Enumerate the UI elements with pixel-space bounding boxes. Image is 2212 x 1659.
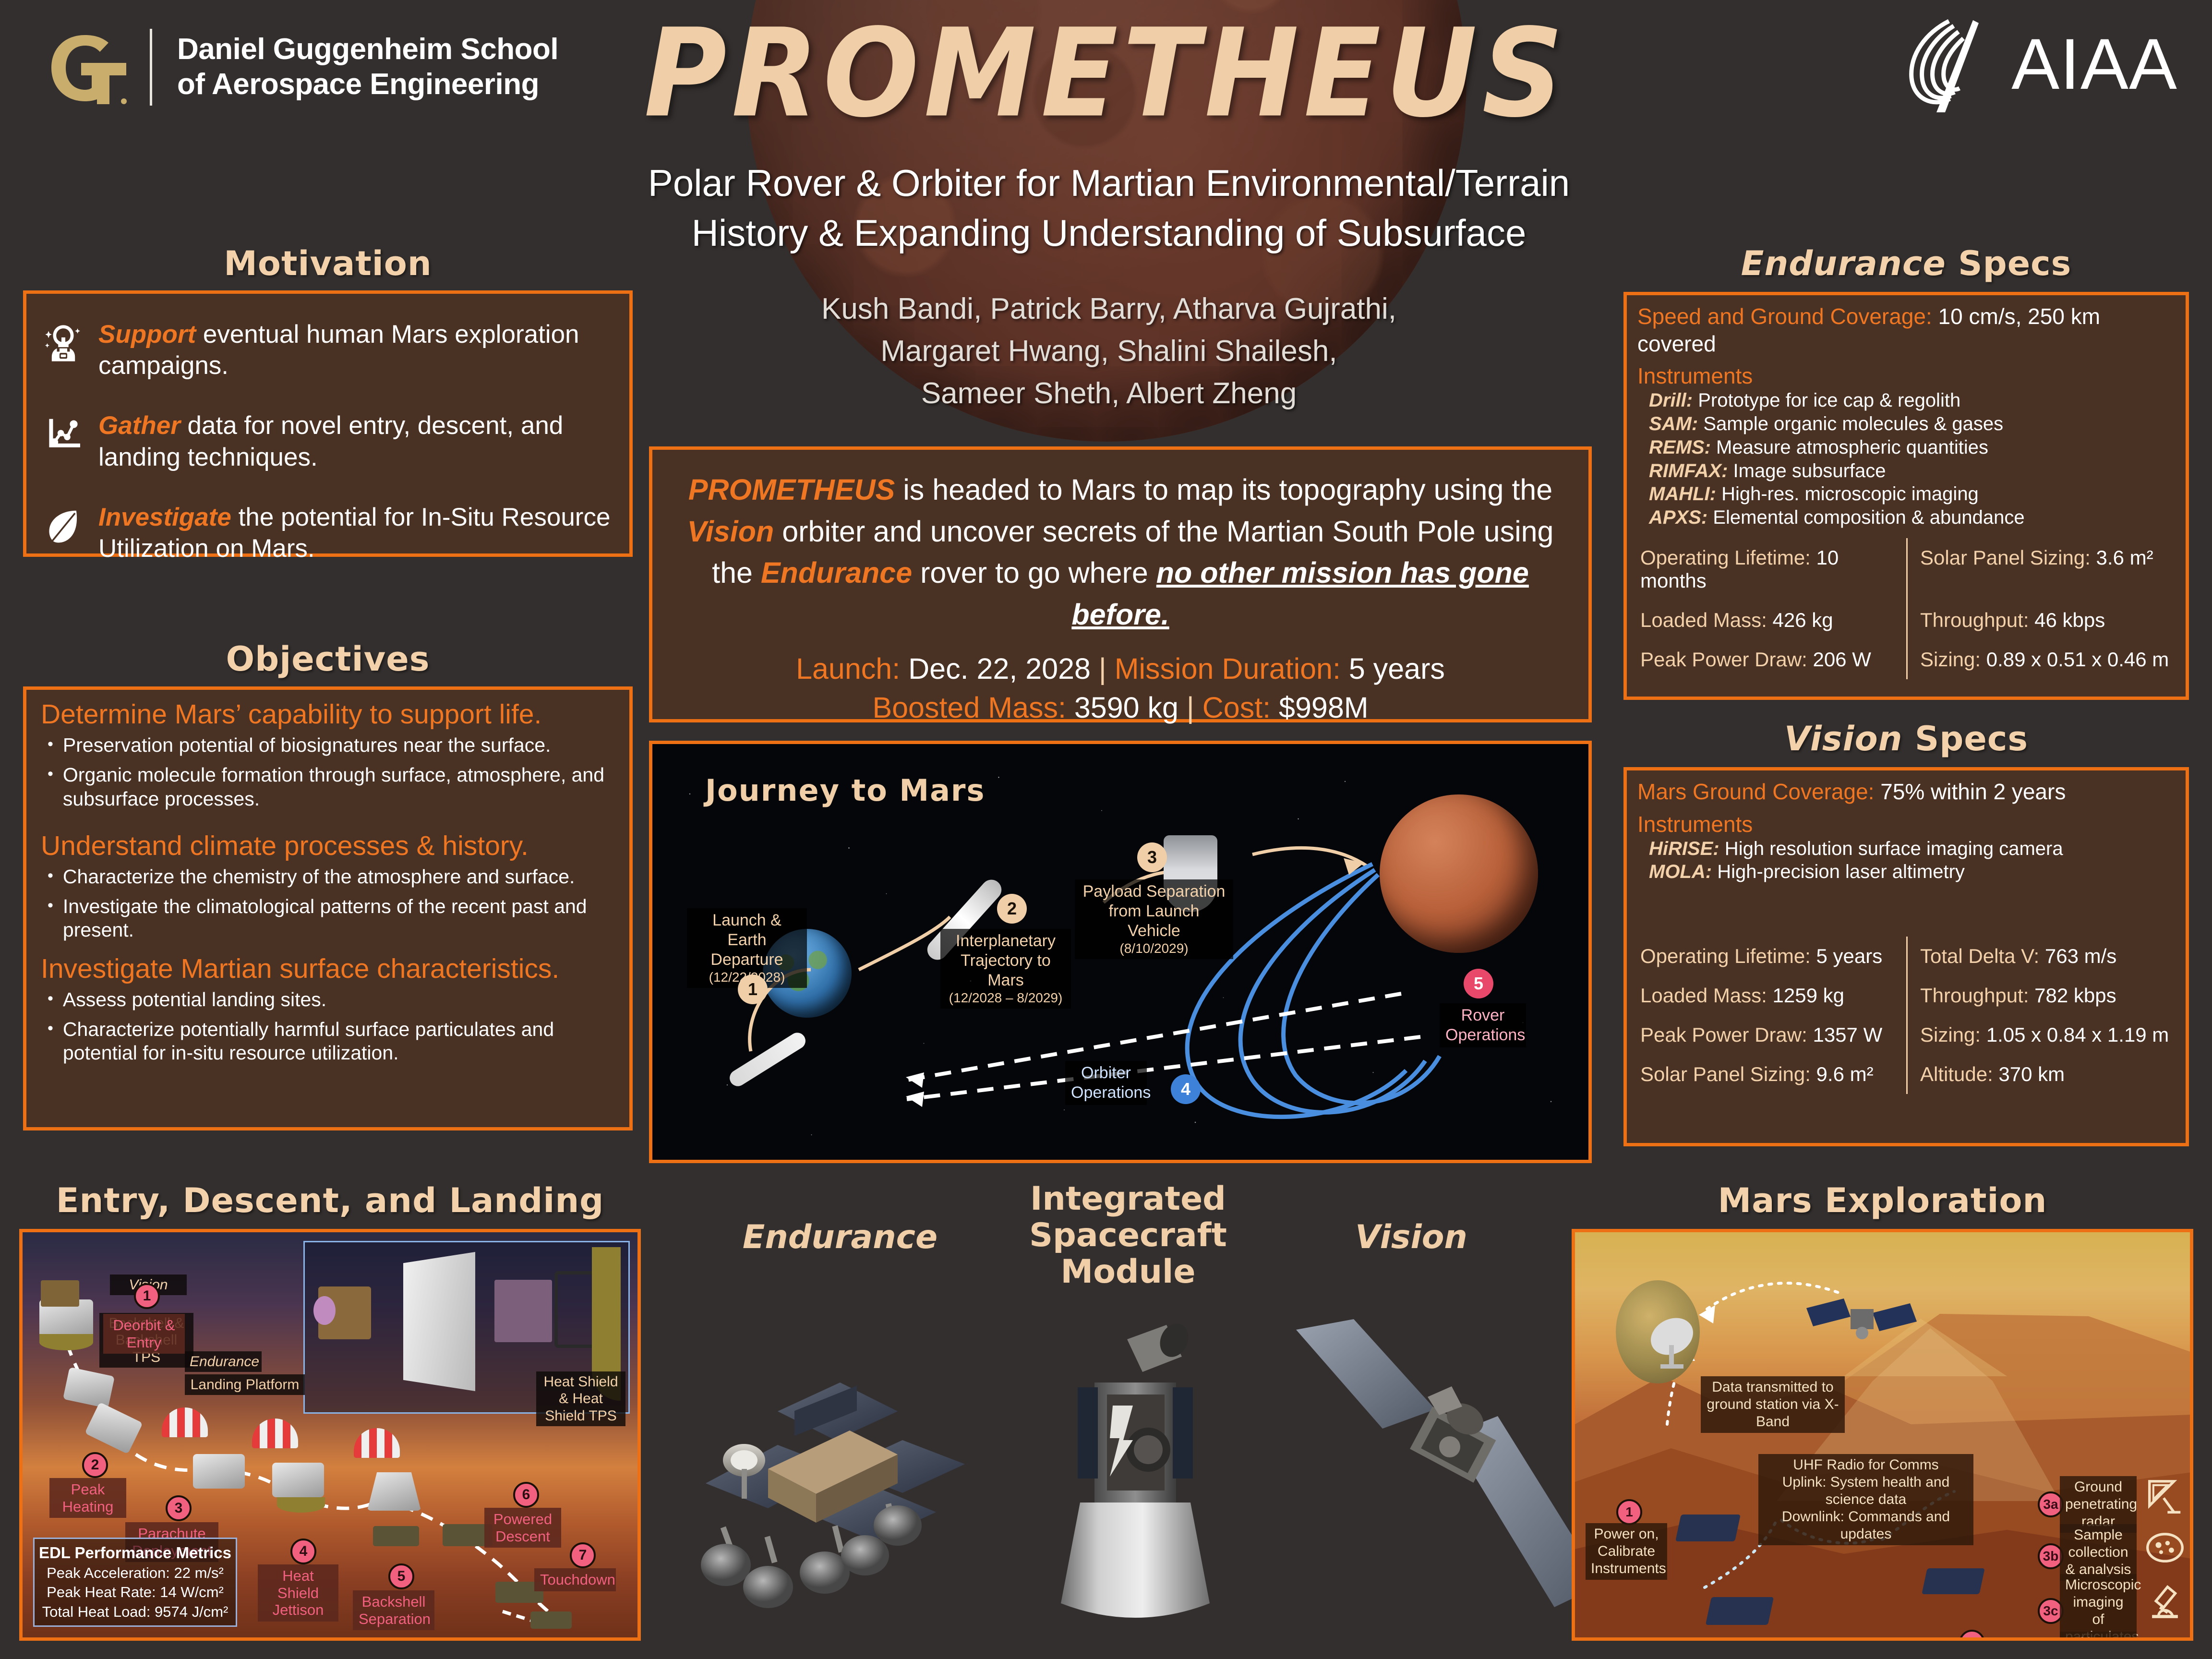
astronaut-icon [43, 323, 84, 364]
edl-metric-row: Peak Heat Rate: 14 W/cm² [37, 1583, 233, 1602]
spec-value: 46 kbps [2029, 609, 2105, 631]
instrument-desc: Prototype for ice cap & regolith [1693, 390, 1960, 411]
mission-facts-row1: Launch: Dec. 22, 2028 | Mission Duration… [652, 649, 1588, 688]
orbiter-stack-top [41, 1280, 79, 1307]
line-chart-icon [43, 414, 84, 455]
poster-subtitle: Polar Rover & Orbiter for Martian Enviro… [528, 158, 1690, 258]
spec-value: 5 years [1811, 945, 1882, 967]
edl-figure: Vision Backshell & Backshell TPS Enduran… [19, 1229, 641, 1641]
vision-lead: Mars Ground Coverage: 75% within 2 years [1637, 778, 2175, 805]
mx-science-3b-label: Sample collection & analysis [2060, 1524, 2137, 1581]
spec-label: Peak Power Draw: [1640, 648, 1807, 671]
mx-step-1-number: 1 [1616, 1499, 1642, 1525]
subtitle-line2: History & Expanding Understanding of Sub… [528, 208, 1690, 258]
endurance-specs-heading: Endurance Specs [1623, 244, 2189, 283]
journey-to-mars-figure: Journey to Mars [649, 741, 1592, 1163]
endurance-spec-grid: Operating Lifetime: 10 months Solar Pane… [1637, 538, 2175, 679]
xband-comms-label: Data transmitted to ground station via X… [1701, 1376, 1845, 1433]
instrument-name: REMS: [1649, 437, 1711, 458]
edl-step-2-label: Peak Heating [49, 1478, 126, 1518]
spec-label: Operating Lifetime: [1640, 546, 1811, 569]
instrument-row: APXS: Elemental composition & abundance [1637, 506, 2175, 529]
spec-label: Sizing: [1920, 648, 1981, 671]
atmosphere-globe-icon [2144, 1638, 2186, 1641]
edl-metric-row: Peak Acceleration: 22 m/s² [37, 1563, 233, 1583]
objective-group-3: Investigate Martian surface characterist… [41, 953, 615, 1065]
mars-exploration-figure: Data transmitted to ground station via X… [1572, 1229, 2193, 1641]
edl-heading: Entry, Descent, and Landing [19, 1181, 641, 1220]
rover-position-1 [1675, 1515, 1741, 1541]
motivation-item-1-lead: Support [98, 320, 196, 349]
journey-step-1-text: Launch & Earth Departure [710, 911, 783, 969]
motivation-item-2-text: Gather data for novel entry, descent, an… [98, 410, 613, 472]
mission-statement-panel: PROMETHEUS is headed to Mars to map its … [649, 446, 1592, 722]
mission-prometheus-word: PROMETHEUS [688, 473, 895, 506]
spec-cell: Sizing: 1.05 x 0.84 x 1.19 m [1906, 1015, 2175, 1055]
spec-cell: Solar Panel Sizing: 9.6 m² [1637, 1055, 1906, 1094]
subtitle-line1: Polar Rover & Orbiter for Martian Enviro… [528, 158, 1690, 208]
instrument-desc: High-res. microscopic imaging [1716, 483, 1979, 505]
objective-bullet: •Preservation potential of biosignatures… [41, 733, 615, 757]
rover-position-2 [1706, 1597, 1774, 1625]
instrument-row: MOLA: High-precision laser altimetry [1637, 860, 2175, 884]
motivation-item-3-text: Investigate the potential for In-Situ Re… [98, 502, 613, 564]
motivation-panel: Support eventual human Mars exploration … [23, 290, 633, 557]
spec-cell: Sizing: 0.89 x 0.51 x 0.46 m [1906, 640, 2175, 679]
bullet-dot: • [48, 763, 53, 810]
instrument-desc: Image subsurface [1728, 460, 1886, 481]
spec-label: Throughput: [1920, 984, 2029, 1007]
objective-bullet-text: Preservation potential of biosignatures … [63, 733, 551, 757]
spec-label: Throughput: [1920, 609, 2029, 631]
vision-specs-heading: Vision Specs [1623, 719, 2189, 758]
instrument-row: HiRISE: High resolution surface imaging … [1637, 837, 2175, 861]
objective-group-2: Understand climate processes & history. … [41, 830, 615, 942]
spec-value: 206 W [1807, 648, 1871, 671]
mission-text-f: rover to go where [912, 556, 1156, 589]
journey-step-3-date: (8/10/2029) [1081, 940, 1227, 957]
objective-group-1: Determine Mars’ capability to support li… [41, 698, 615, 811]
vision-heading-italic: Vision [1784, 719, 1903, 758]
bullet-dot: • [48, 1018, 53, 1065]
objective-bullet: •Assess potential landing sites. [41, 988, 615, 1011]
objective-bullet-text: Characterize potentially harmful surface… [63, 1018, 615, 1065]
edl-step-2-number: 2 [82, 1452, 108, 1478]
mission-statement-text: PROMETHEUS is headed to Mars to map its … [652, 450, 1588, 635]
objective-bullet-text: Assess potential landing sites. [63, 988, 326, 1011]
motivation-item-1-text: Support eventual human Mars exploration … [98, 319, 613, 381]
spec-cell: Peak Power Draw: 1357 W [1637, 1015, 1906, 1055]
vision-heading-rest: Specs [1903, 719, 2029, 758]
chuted-capsule-2 [272, 1463, 324, 1497]
spec-label: Loaded Mass: [1640, 984, 1767, 1007]
poster-title: PROMETHEUS [0, 13, 2212, 135]
motivation-item-1: Support eventual human Mars exploration … [26, 319, 629, 381]
edl-step-4-label: Heat Shield Jettison [258, 1564, 338, 1622]
endurance-instruments-heading: Instruments [1637, 363, 2175, 389]
journey-step-2-date: (12/2028 – 8/2029) [946, 990, 1065, 1006]
motivation-heading: Motivation [23, 244, 633, 283]
facts-separator: | [1187, 691, 1194, 724]
uhf-downlink: Downlink: Commands and updates [1764, 1508, 1968, 1543]
spec-value: 1259 kg [1767, 984, 1844, 1007]
vision-spec-grid: Operating Lifetime: 5 years Total Delta … [1637, 937, 2175, 1094]
instrument-desc: Measure atmospheric quantities [1711, 437, 1988, 458]
mx-science-3c-label: Microscopic imaging of particulates [2060, 1574, 2137, 1641]
ism-label-line2: Spacecraft [989, 1217, 1267, 1254]
facts-separator: | [1099, 652, 1106, 685]
journey-step-2-number: 2 [997, 894, 1027, 924]
spec-label: Sizing: [1920, 1023, 1981, 1046]
jettisoned-heat-shield [277, 1497, 325, 1513]
spec-cell: Altitude: 370 km [1906, 1055, 2175, 1094]
cost-value: $998M [1279, 691, 1369, 724]
mx-science-3d-label: Near-surface atmospheric quantities [2060, 1632, 2137, 1641]
objective-bullet: •Characterize potentially harmful surfac… [41, 1018, 615, 1065]
edl-step-5-number: 5 [388, 1563, 414, 1589]
spec-cell: Operating Lifetime: 5 years [1637, 937, 1906, 976]
endurance-specs-panel: Speed and Ground Coverage: 10 cm/s, 250 … [1623, 292, 2189, 700]
integrated-spacecraft-module-render [1022, 1296, 1248, 1632]
spec-value: 9.6 m² [1811, 1063, 1874, 1085]
instrument-name: MOLA: [1649, 861, 1712, 882]
instrument-desc: Sample organic molecules & gases [1698, 413, 2003, 434]
boosted-mass-label: Boosted Mass: [872, 691, 1066, 724]
spec-cell: Solar Panel Sizing: 3.6 m² [1906, 538, 2175, 601]
edl-step-6-number: 6 [513, 1482, 539, 1508]
endurance-rover-render [696, 1325, 1022, 1632]
spec-value: 370 km [1993, 1063, 2065, 1085]
duration-value: 5 years [1349, 652, 1445, 685]
edl-performance-metrics: EDL Performance Metrics Peak Acceleratio… [33, 1538, 237, 1627]
ism-render-label: Integrated Spacecraft Module [989, 1181, 1267, 1290]
microscope-icon [2144, 1582, 2186, 1623]
edl-step-1-number: 1 [134, 1283, 160, 1309]
instrument-desc: Elemental composition & abundance [1707, 507, 2024, 528]
edl-step-5-label: Backshell Separation [353, 1590, 434, 1630]
uhf-comms-label: UHF Radio for Comms Uplink: System healt… [1758, 1454, 1973, 1545]
edl-step-3-number: 3 [166, 1495, 192, 1521]
journey-step-5-label: Rover Operations [1440, 1003, 1526, 1047]
uhf-uplink: Uplink: System health and science data [1764, 1474, 1968, 1508]
duration-label: Mission Duration: [1115, 652, 1341, 685]
edl-metrics-title: EDL Performance Metrics [37, 1543, 233, 1563]
journey-step-2-text: Interplanetary Trajectory to Mars [956, 932, 1056, 989]
cost-label: Cost: [1202, 691, 1271, 724]
spec-value: 426 kg [1767, 609, 1833, 631]
journey-step-5-text: Rover Operations [1445, 1006, 1525, 1044]
instrument-row: RIMFAX: Image subsurface [1637, 459, 2175, 483]
spec-label: Total Delta V: [1920, 945, 2039, 967]
boosted-mass-value: 3590 kg [1074, 691, 1178, 724]
journey-step-3-number: 3 [1137, 842, 1167, 872]
objective-group-2-title: Understand climate processes & history. [41, 830, 615, 862]
ism-label-line3: Module [989, 1254, 1267, 1290]
mission-endurance-word: Endurance [761, 556, 912, 589]
endurance-heading-italic: Endurance [1741, 244, 1946, 283]
bullet-dot: • [48, 988, 53, 1011]
petri-dish-icon [2144, 1527, 2186, 1568]
endurance-lead: Speed and Ground Coverage: 10 cm/s, 250 … [1637, 303, 2175, 357]
journey-step-2-label: Interplanetary Trajectory to Mars (12/20… [940, 929, 1071, 1009]
launch-label: Launch: [796, 652, 900, 685]
objective-bullet: •Characterize the chemistry of the atmos… [41, 865, 615, 889]
mars-exploration-heading: Mars Exploration [1572, 1181, 2193, 1220]
authors-line3: Sameer Sheth, Albert Zheng [595, 373, 1623, 415]
instrument-row: REMS: Measure atmospheric quantities [1637, 436, 2175, 459]
spec-cell: Loaded Mass: 426 kg [1637, 601, 1906, 640]
mx-step-1-label: Power on, Calibrate Instruments [1586, 1523, 1667, 1580]
mission-text-b: is headed to Mars to map its topography … [895, 473, 1552, 506]
vision-lead-label: Mars Ground Coverage: [1637, 779, 1874, 804]
motivation-item-2-lead: Gather [98, 411, 180, 440]
ground-station-dish-icon [1647, 1316, 1700, 1369]
authors-line2: Margaret Hwang, Shalini Shailesh, [595, 330, 1623, 373]
objective-group-1-title: Determine Mars’ capability to support li… [41, 698, 615, 731]
instrument-name: SAM: [1649, 413, 1698, 434]
spec-value: 1.05 x 0.84 x 1.19 m [1981, 1023, 2169, 1046]
vision-render-label: Vision [1286, 1219, 1536, 1256]
edl-metric-row: Total Heat Load: 9574 J/cm² [37, 1602, 233, 1622]
instrument-row: Drill: Prototype for ice cap & regolith [1637, 389, 2175, 412]
endurance-lead-label: Speed and Ground Coverage: [1637, 304, 1932, 329]
spec-label: Loaded Mass: [1640, 609, 1767, 631]
journey-step-3-text: Payload Separation from Launch Vehicle [1083, 882, 1226, 940]
motivation-item-3-lead: Investigate [98, 503, 231, 531]
spec-value: 3.6 m² [2091, 546, 2153, 569]
spec-cell: Loaded Mass: 1259 kg [1637, 976, 1906, 1015]
authors-line1: Kush Bandi, Patrick Barry, Atharva Gujra… [595, 288, 1623, 330]
mission-facts: Launch: Dec. 22, 2028 | Mission Duration… [652, 649, 1588, 727]
spec-cell: Peak Power Draw: 206 W [1637, 640, 1906, 679]
edl-step-1-label: Deorbit & Entry [103, 1314, 185, 1354]
objectives-heading: Objectives [23, 639, 633, 679]
spec-value: 0.89 x 0.51 x 0.46 m [1981, 648, 2169, 671]
rover-position-4 [1922, 1568, 1984, 1594]
uhf-title: UHF Radio for Comms [1764, 1456, 1968, 1474]
spec-label: Solar Panel Sizing: [1640, 1063, 1811, 1085]
leaf-icon [43, 505, 84, 547]
journey-step-5-number: 5 [1464, 969, 1493, 998]
launch-value: Dec. 22, 2028 [908, 652, 1091, 685]
spec-label: Solar Panel Sizing: [1920, 546, 2091, 569]
journey-step-4-label: Orbiter Operations [1065, 1061, 1147, 1105]
instrument-desc: High resolution surface imaging camera [1719, 838, 2063, 859]
instrument-name: MAHLI: [1649, 483, 1716, 505]
bullet-dot: • [48, 733, 53, 757]
journey-step-3-label: Payload Separation from Launch Vehicle (… [1075, 879, 1233, 959]
chuted-capsule-1 [193, 1454, 245, 1489]
instrument-row: MAHLI: High-res. microscopic imaging [1637, 482, 2175, 506]
instrument-name: APXS: [1649, 507, 1707, 528]
edl-step-4-number: 4 [290, 1539, 316, 1564]
spec-cell: Total Delta V: 763 m/s [1906, 937, 2175, 976]
vision-instruments-heading: Instruments [1637, 811, 2175, 837]
objective-group-3-title: Investigate Martian surface characterist… [41, 953, 615, 985]
motivation-item-3: Investigate the potential for In-Situ Re… [26, 502, 629, 564]
instrument-name: RIMFAX: [1649, 460, 1728, 481]
motivation-item-2: Gather data for novel entry, descent, an… [26, 410, 629, 472]
spec-cell: Throughput: 46 kbps [1906, 601, 2175, 640]
instrument-desc: High-precision laser altimetry [1712, 861, 1965, 882]
author-list: Kush Bandi, Patrick Barry, Atharva Gujra… [595, 288, 1623, 415]
endurance-heading-rest: Specs [1946, 244, 2072, 283]
objective-bullet-text: Investigate the climatological patterns … [63, 895, 615, 942]
instrument-row: SAM: Sample organic molecules & gases [1637, 412, 2175, 436]
objective-bullet: •Organic molecule formation through surf… [41, 763, 615, 810]
ism-label-line1: Integrated [989, 1181, 1267, 1217]
instrument-name: HiRISE: [1649, 838, 1719, 859]
mission-vision-word: Vision [687, 515, 774, 548]
vision-specs-panel: Mars Ground Coverage: 75% within 2 years… [1623, 767, 2189, 1146]
vision-orbiter-render [1291, 1315, 1608, 1632]
spec-label: Altitude: [1920, 1063, 1993, 1085]
spec-label: Operating Lifetime: [1640, 945, 1811, 967]
edl-step-6-label: Powered Descent [484, 1508, 561, 1548]
objective-bullet-text: Characterize the chemistry of the atmosp… [63, 865, 575, 889]
vision-lead-value: 75% within 2 years [1874, 779, 2066, 804]
mission-facts-row2: Boosted Mass: 3590 kg | Cost: $998M [652, 688, 1588, 727]
vision-orbiter-icon [1806, 1296, 1917, 1353]
rover-descent-1 [373, 1526, 419, 1546]
endurance-render-label: Endurance [706, 1219, 974, 1256]
heat-shield-1 [39, 1334, 93, 1350]
objective-bullet-text: Organic molecule formation through surfa… [63, 763, 615, 810]
edl-step-7-number: 7 [570, 1542, 596, 1568]
objectives-panel: Determine Mars’ capability to support li… [23, 686, 633, 1130]
journey-step-1-number: 1 [738, 974, 768, 1004]
spec-value: 1357 W [1807, 1023, 1882, 1046]
journey-step-4-text: Orbiter Operations [1071, 1064, 1151, 1102]
spec-cell: Operating Lifetime: 10 months [1637, 538, 1906, 601]
edl-step-7-label: Touchdown [534, 1568, 616, 1591]
bullet-dot: • [48, 895, 53, 942]
spec-cell: Throughput: 782 kbps [1906, 976, 2175, 1015]
poster-root: Daniel Guggenheim School of Aerospace En… [0, 0, 2212, 1659]
spec-label: Peak Power Draw: [1640, 1023, 1807, 1046]
bullet-dot: • [48, 865, 53, 889]
instrument-name: Drill: [1649, 390, 1693, 411]
rover-landed [530, 1611, 572, 1629]
spec-value: 763 m/s [2039, 945, 2116, 967]
radar-dish-icon [2144, 1476, 2186, 1517]
objective-bullet: •Investigate the climatological patterns… [41, 895, 615, 942]
spec-value: 782 kbps [2029, 984, 2116, 1007]
journey-step-4-number: 4 [1171, 1074, 1201, 1104]
